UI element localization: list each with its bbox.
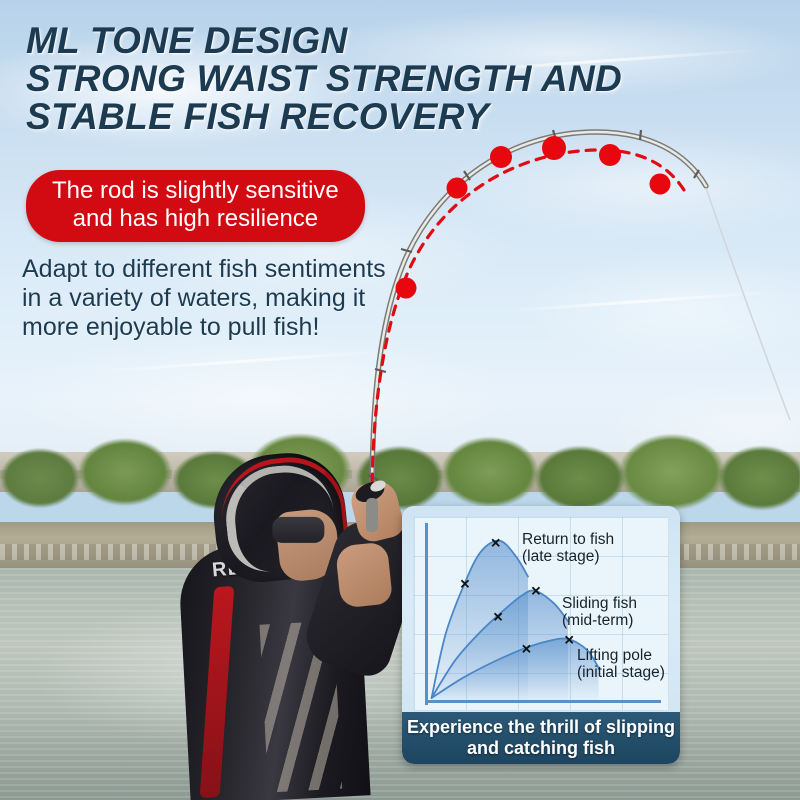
fishing-reel — [353, 478, 388, 532]
badge-line-2: and has high resilience — [52, 205, 339, 233]
series-name: Lifting pole — [577, 647, 652, 664]
promo-banner: RENXING — [0, 0, 800, 800]
paragraph-line-3: more enjoyable to pull fish! — [22, 313, 442, 342]
chart-x-marker: ✕ — [531, 585, 542, 598]
chart-caption: Experience the thrill of slipping and ca… — [402, 712, 680, 764]
chart-plot-area: ✕✕✕✕✕✕ Return to fish(late stage)Sliding… — [413, 516, 669, 711]
page-title: ML TONE DESIGN STRONG WAIST STRENGTH AND… — [26, 22, 726, 136]
chart-x-marker: ✕ — [493, 610, 504, 623]
headline-line-2: STRONG WAIST STRENGTH AND — [26, 60, 726, 98]
series-name: Return to fish — [522, 531, 614, 548]
chart-card: ✕✕✕✕✕✕ Return to fish(late stage)Sliding… — [402, 506, 680, 764]
caption-line-2: and catching fish — [467, 738, 615, 759]
chart-x-marker: ✕ — [490, 536, 501, 549]
paragraph-line-1: Adapt to different fish sentiments — [22, 255, 442, 284]
headline-line-1: ML TONE DESIGN — [26, 22, 726, 60]
series-stage: (initial stage) — [577, 664, 665, 681]
series-stage: (late stage) — [522, 548, 614, 565]
badge-line-1: The rod is slightly sensitive — [52, 177, 339, 205]
chart-series-label: Lifting pole(initial stage) — [577, 647, 665, 681]
series-name: Sliding fish — [562, 595, 637, 612]
paragraph-line-2: in a variety of waters, making it — [22, 284, 442, 313]
chart-x-marker: ✕ — [564, 634, 575, 647]
chart-x-marker: ✕ — [459, 578, 470, 591]
chart-series-label: Sliding fish(mid-term) — [562, 595, 637, 629]
chart-x-marker: ✕ — [521, 643, 532, 656]
status-badge: The rod is slightly sensitive and has hi… — [26, 170, 365, 242]
headline-line-3: STABLE FISH RECOVERY — [26, 98, 726, 136]
series-stage: (mid-term) — [562, 612, 637, 629]
caption-line-1: Experience the thrill of slipping — [407, 717, 675, 738]
fishing-line — [706, 188, 790, 420]
description-text: Adapt to different fish sentiments in a … — [22, 255, 442, 342]
chart-series-label: Return to fish(late stage) — [522, 531, 614, 565]
